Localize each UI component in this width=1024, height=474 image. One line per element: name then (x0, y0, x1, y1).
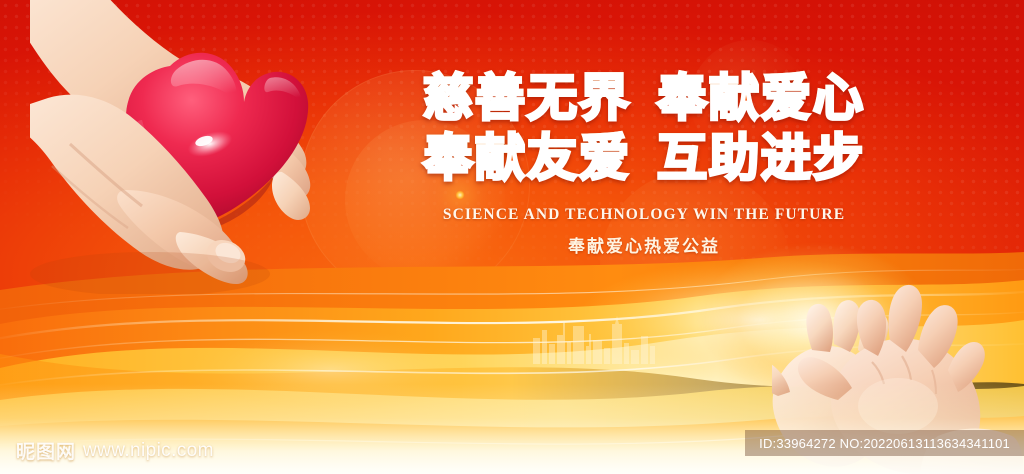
headline-block: 慈善无界奉献爱心 奉献友爱互助进步 (404, 68, 884, 188)
subtitle-chinese: 奉献爱心热爱公益 (404, 232, 884, 257)
hands-holding-heart-image (30, 0, 360, 294)
headline-line2-right: 互助进步 (657, 129, 865, 187)
headline-line1-left: 慈善无界 (423, 69, 631, 127)
headline-line-2: 奉献友爱互助进步 (404, 128, 884, 188)
headline-line1-right: 奉献爱心 (657, 69, 865, 127)
poster-canvas: 慈善无界奉献爱心 奉献友爱互助进步 SCIENCE AND TECHNOLOGY… (0, 0, 1024, 474)
image-id-bar: ID:33964272 NO:20220613113634341101 (745, 430, 1024, 456)
light-spark-icon (455, 190, 465, 200)
city-skyline-icon (527, 316, 707, 364)
headline-line2-left: 奉献友爱 (423, 129, 631, 187)
nipic-logo: 昵图网 (16, 437, 76, 464)
watermark: 昵图网 www.nipic.com (16, 437, 214, 464)
subtitle-english: SCIENCE AND TECHNOLOGY WIN THE FUTURE (404, 206, 884, 224)
nipic-url: www.nipic.com (83, 440, 214, 462)
headline-line-1: 慈善无界奉献爱心 (404, 68, 884, 128)
